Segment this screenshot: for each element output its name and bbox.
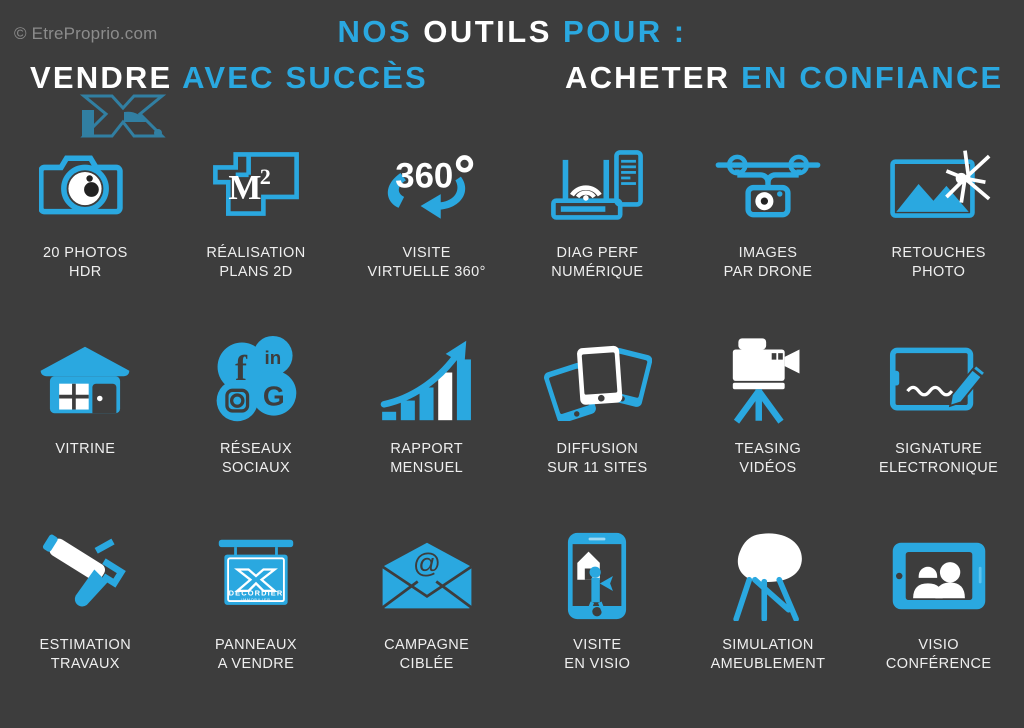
service-item-visite-en-visio[interactable]: VISITE EN VISIO xyxy=(512,522,683,718)
camera-icon xyxy=(26,134,144,234)
heading-vendre-part1: VENDRE xyxy=(30,60,172,95)
photo-retouch-icon xyxy=(880,134,998,234)
page-title: NOS OUTILS POUR : xyxy=(0,14,1024,50)
page-title-part1: NOS xyxy=(337,14,412,49)
svg-text:G: G xyxy=(263,380,285,411)
email-at-envelope-icon: @ xyxy=(368,526,486,626)
floorplan-m2-icon: M 2 xyxy=(197,134,315,234)
service-item-20-photos-hdr[interactable]: 20 PHOTOS HDR xyxy=(0,130,171,326)
router-phone-icon xyxy=(538,134,656,234)
for-sale-sign-icon: DECORDIER IMMOBILIER xyxy=(197,526,315,626)
service-label: IMAGES PAR DRONE xyxy=(724,244,813,282)
service-item-visio-conference[interactable]: VISIO CONFÉRENCE xyxy=(853,522,1024,718)
social-networks-icon: f in G xyxy=(197,330,315,430)
service-label: DIAG PERF NUMÉRIQUE xyxy=(551,244,643,282)
poster-root: © EtreProprio.com NOS OUTILS POUR : VEND… xyxy=(0,0,1024,728)
service-item-visite-virtuelle-360[interactable]: 360 VISITE VIRTUELLE 360° xyxy=(341,130,512,326)
service-label: VISITE EN VISIO xyxy=(564,636,630,674)
heading-acheter: ACHETER EN CONFIANCE xyxy=(565,60,1003,96)
service-label: RÉSEAUX SOCIAUX xyxy=(220,440,292,478)
svg-text:@: @ xyxy=(413,547,441,578)
service-label: SIGNATURE ELECTRONIQUE xyxy=(879,440,998,478)
shop-house-icon xyxy=(26,330,144,430)
service-label: ESTIMATION TRAVAUX xyxy=(40,636,132,674)
service-item-diag-perf-numerique[interactable]: DIAG PERF NUMÉRIQUE xyxy=(512,130,683,326)
sign-label-text: DECORDIER xyxy=(229,589,284,598)
sign-sublabel-text: IMMOBILIER xyxy=(241,598,270,602)
service-label: 20 PHOTOS HDR xyxy=(43,244,128,282)
service-item-images-par-drone[interactable]: IMAGES PAR DRONE xyxy=(683,130,854,326)
page-title-part2: OUTILS xyxy=(423,14,552,49)
service-label: VISIO CONFÉRENCE xyxy=(886,636,992,674)
service-item-simulation-ameublement[interactable]: SIMULATION AMEUBLEMENT xyxy=(683,522,854,718)
service-label: PANNEAUX A VENDRE xyxy=(215,636,297,674)
service-label: TEASING VIDÉOS xyxy=(735,440,801,478)
heading-vendre: VENDRE AVEC SUCCÈS xyxy=(30,60,428,96)
chair-icon xyxy=(709,526,827,626)
phone-video-visit-icon xyxy=(538,526,656,626)
page-title-part3: POUR : xyxy=(563,14,687,49)
service-label: RAPPORT MENSUEL xyxy=(390,440,463,478)
svg-text:M: M xyxy=(228,168,261,207)
service-label: SIMULATION AMEUBLEMENT xyxy=(711,636,826,674)
video-camera-tripod-icon xyxy=(709,330,827,430)
service-item-retouches-photo[interactable]: RETOUCHES PHOTO xyxy=(853,130,1024,326)
service-label: RETOUCHES PHOTO xyxy=(891,244,985,282)
service-label: VITRINE xyxy=(55,440,115,459)
service-item-signature-electronique[interactable]: SIGNATURE ELECTRONIQUE xyxy=(853,326,1024,522)
svg-text:in: in xyxy=(265,347,282,368)
svg-text:2: 2 xyxy=(260,164,271,189)
svg-text:360: 360 xyxy=(395,158,453,196)
paint-roller-icon xyxy=(26,526,144,626)
service-label: DIFFUSION SUR 11 SITES xyxy=(547,440,647,478)
signature-tablet-icon xyxy=(880,330,998,430)
heading-acheter-part2: EN CONFIANCE xyxy=(741,60,1003,95)
heading-acheter-part1: ACHETER xyxy=(565,60,730,95)
service-label: CAMPAGNE CIBLÉE xyxy=(384,636,469,674)
service-item-panneaux-a-vendre[interactable]: DECORDIER IMMOBILIER PANNEAUX A VENDRE xyxy=(171,522,342,718)
service-item-rapport-mensuel[interactable]: RAPPORT MENSUEL xyxy=(341,326,512,522)
tablets-icon xyxy=(538,330,656,430)
service-label: VISITE VIRTUELLE 360° xyxy=(367,244,485,282)
service-label: RÉALISATION PLANS 2D xyxy=(206,244,305,282)
heading-vendre-part2: AVEC SUCCÈS xyxy=(182,60,428,95)
service-item-plans-2d[interactable]: M 2 RÉALISATION PLANS 2D xyxy=(171,130,342,326)
bar-chart-growth-icon xyxy=(368,330,486,430)
service-item-teasing-videos[interactable]: TEASING VIDÉOS xyxy=(683,326,854,522)
service-item-reseaux-sociaux[interactable]: f in G RÉSEAUX SOCIAUX xyxy=(171,326,342,522)
service-item-campagne-ciblee[interactable]: @ CAMPAGNE CIBLÉE xyxy=(341,522,512,718)
service-item-diffusion-11-sites[interactable]: DIFFUSION SUR 11 SITES xyxy=(512,326,683,522)
360-arrows-icon: 360 xyxy=(368,134,486,234)
drone-icon xyxy=(709,134,827,234)
service-item-estimation-travaux[interactable]: ESTIMATION TRAVAUX xyxy=(0,522,171,718)
service-item-vitrine[interactable]: VITRINE xyxy=(0,326,171,522)
tablet-people-icon xyxy=(880,526,998,626)
services-grid: 20 PHOTOS HDR M 2 RÉALISATION PLANS 2D 3… xyxy=(0,130,1024,720)
svg-text:f: f xyxy=(235,348,248,388)
